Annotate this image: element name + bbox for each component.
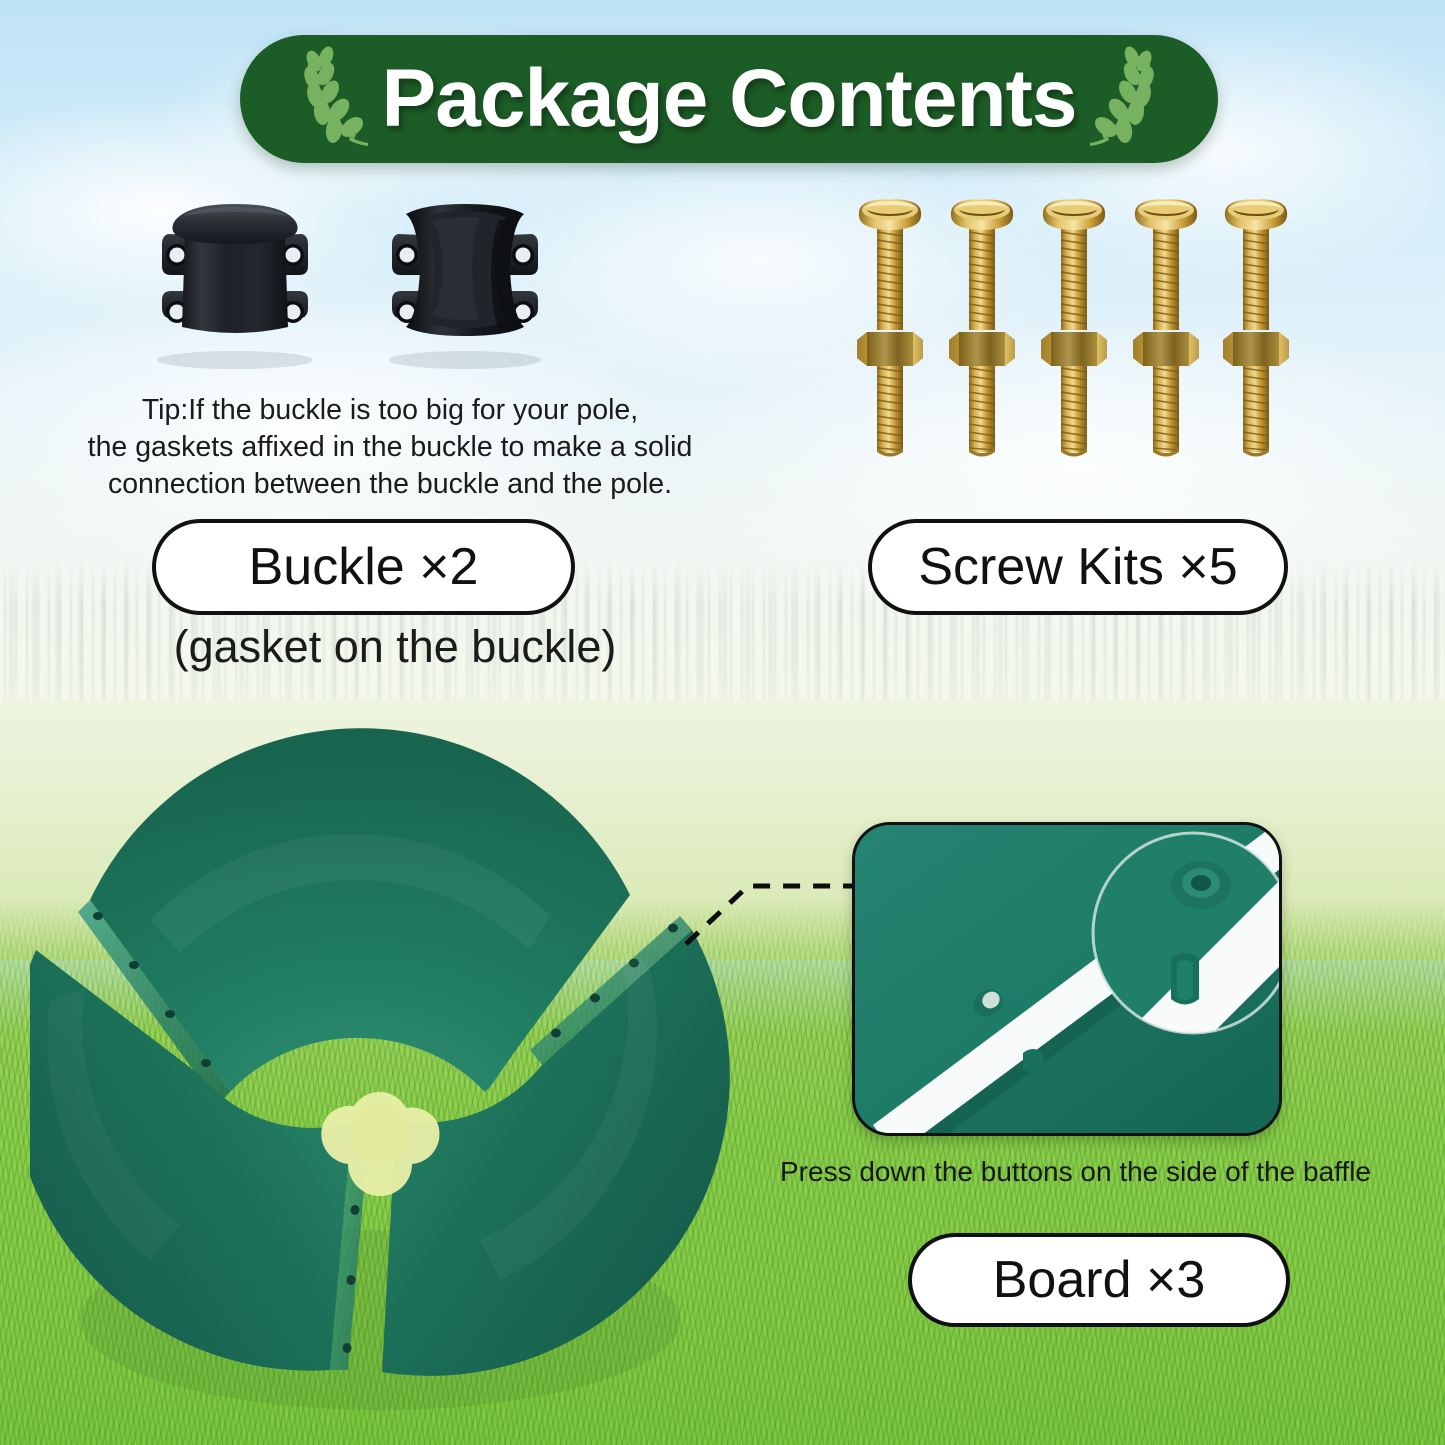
board-label-pill: Board ×3 (908, 1233, 1290, 1327)
board-label-text: Board ×3 (993, 1254, 1206, 1306)
buckle-product-image (150, 192, 570, 377)
buckle-label-text: Buckle ×2 (249, 541, 479, 593)
detail-leader-line (680, 860, 870, 955)
press-buttons-caption: Press down the buttons on the side of th… (780, 1155, 1435, 1189)
infographic-canvas: Package Contents (0, 0, 1445, 1445)
screw-kits-label-text: Screw Kits ×5 (918, 541, 1237, 593)
page-title: Package Contents (382, 58, 1077, 140)
buckle-tip-text: Tip:If the buckle is too big for your po… (80, 392, 700, 503)
laurel-branch-icon (294, 45, 372, 154)
tip-line-1: Tip:If the buckle is too big for your po… (80, 392, 700, 429)
gasket-note-text: (gasket on the buckle) (85, 622, 705, 672)
header-banner: Package Contents (240, 35, 1218, 163)
screw-kits-label-pill: Screw Kits ×5 (868, 519, 1288, 615)
screw-kit-product-image (855, 190, 1295, 470)
baffle-detail-inset (852, 822, 1282, 1136)
laurel-branch-icon (1086, 45, 1164, 154)
tip-line-3: connection between the buckle and the po… (80, 466, 700, 503)
baffle-product-image (30, 720, 730, 1425)
buckle-label-pill: Buckle ×2 (152, 519, 575, 615)
tip-line-2: the gaskets affixed in the buckle to mak… (80, 429, 700, 466)
